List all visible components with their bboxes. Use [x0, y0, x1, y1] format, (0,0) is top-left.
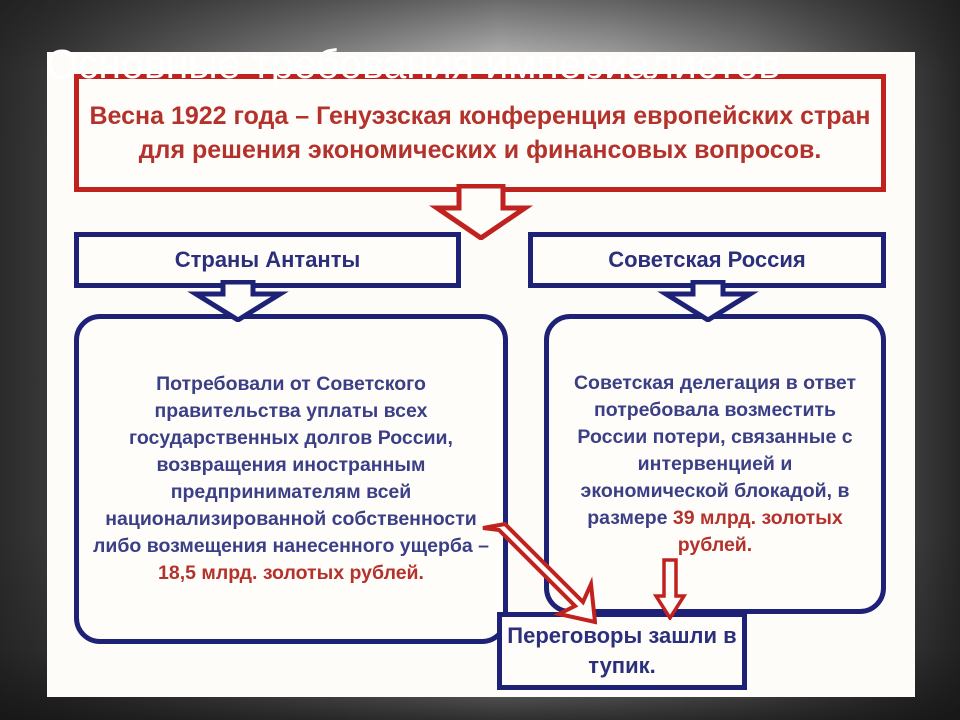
arrow-down-navy-icon: [183, 280, 293, 322]
diagram-panel: Весна 1922 года – Генуэзская конференция…: [47, 52, 915, 697]
branch-body-ententa-lead: Потребовали от Советского правительства …: [93, 373, 489, 557]
branch-title-soviet-russia-label: Советская Россия: [608, 246, 806, 274]
branch-body-soviet-russia-amount: 39 млрд. золотых рублей.: [673, 507, 843, 556]
branch-body-ententa-text: Потребовали от Советского правительства …: [79, 365, 503, 593]
outcome-box-deadlock-text: Переговоры зашли в тупик.: [502, 621, 742, 681]
conference-header-box: Весна 1922 года – Генуэзская конференция…: [74, 74, 886, 192]
branch-title-ententa-label: Страны Антанты: [175, 246, 361, 274]
arrow-down-red-thin-icon: [653, 558, 687, 620]
branch-body-soviet-russia-text: Советская делегация в ответ потребовала …: [549, 364, 881, 565]
branch-body-soviet-russia-lead: Советская делегация в ответ потребовала …: [574, 372, 856, 529]
arrow-down-red-icon: [425, 184, 537, 240]
page-title: Основные требования империалистов: [46, 39, 936, 89]
branch-body-ententa: Потребовали от Советского правительства …: [74, 314, 508, 644]
conference-header-text: Весна 1922 года – Генуэзская конференция…: [79, 95, 881, 171]
presentation-slide: Основные требования империалистов Весна …: [0, 0, 960, 720]
branch-body-ententa-amount: 18,5 млрд. золотых рублей.: [158, 562, 424, 584]
arrow-diagonal-red-icon: [479, 522, 597, 628]
arrow-down-navy-icon: [653, 280, 763, 322]
